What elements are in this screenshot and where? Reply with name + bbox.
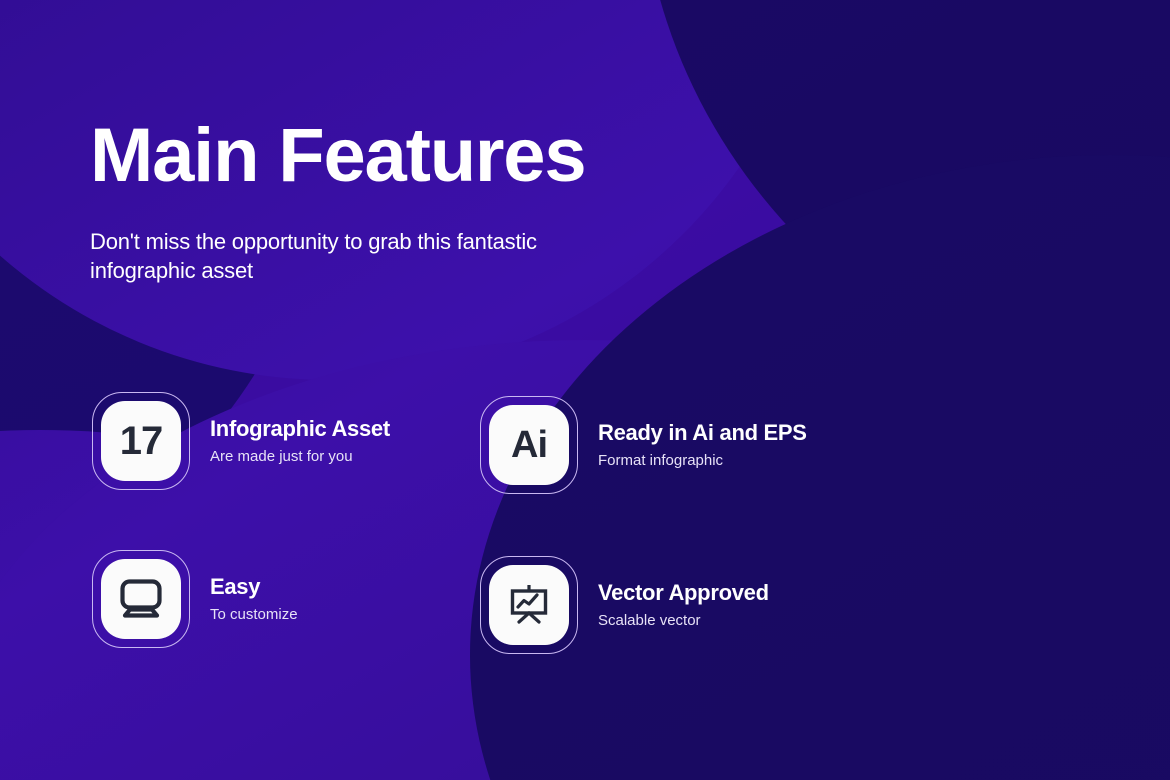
number-17-icon: 17: [120, 421, 163, 461]
feature-title: Easy: [210, 574, 298, 599]
feature-text: Ready in Ai and EPS Format infographic: [598, 420, 807, 469]
icon-ring: [480, 556, 578, 654]
icon-tile: 17: [101, 401, 181, 481]
slide-canvas: Main Features Don't miss the opportunity…: [0, 0, 1170, 780]
feature-item-easy[interactable]: Easy To customize: [92, 550, 298, 648]
feature-subtitle: To customize: [210, 606, 298, 624]
feature-item-infographic-asset[interactable]: 17 Infographic Asset Are made just for y…: [92, 392, 390, 490]
feature-item-vector-approved[interactable]: Vector Approved Scalable vector: [480, 556, 769, 654]
feature-title: Ready in Ai and EPS: [598, 420, 807, 445]
icon-tile: [489, 565, 569, 645]
feature-subtitle: Scalable vector: [598, 612, 769, 630]
icon-tile: [101, 559, 181, 639]
icon-ring: 17: [92, 392, 190, 490]
feature-text: Vector Approved Scalable vector: [598, 580, 769, 629]
feature-text: Infographic Asset Are made just for you: [210, 416, 390, 465]
feature-text: Easy To customize: [210, 574, 298, 623]
presentation-chart-icon: [506, 582, 552, 628]
headline-block: Main Features: [90, 118, 585, 194]
page-subtitle: Don't miss the opportunity to grab this …: [90, 228, 550, 285]
page-title: Main Features: [90, 118, 585, 194]
icon-tile: Ai: [489, 405, 569, 485]
monitor-icon: [118, 578, 164, 620]
icon-ring: Ai: [480, 396, 578, 494]
feature-title: Vector Approved: [598, 580, 769, 605]
icon-ring: [92, 550, 190, 648]
feature-subtitle: Format infographic: [598, 452, 807, 470]
feature-subtitle: Are made just for you: [210, 448, 390, 466]
adobe-illustrator-ai-icon: Ai: [511, 426, 547, 464]
feature-title: Infographic Asset: [210, 416, 390, 441]
feature-item-ready-in-ai-and-eps[interactable]: Ai Ready in Ai and EPS Format infographi…: [480, 396, 807, 494]
